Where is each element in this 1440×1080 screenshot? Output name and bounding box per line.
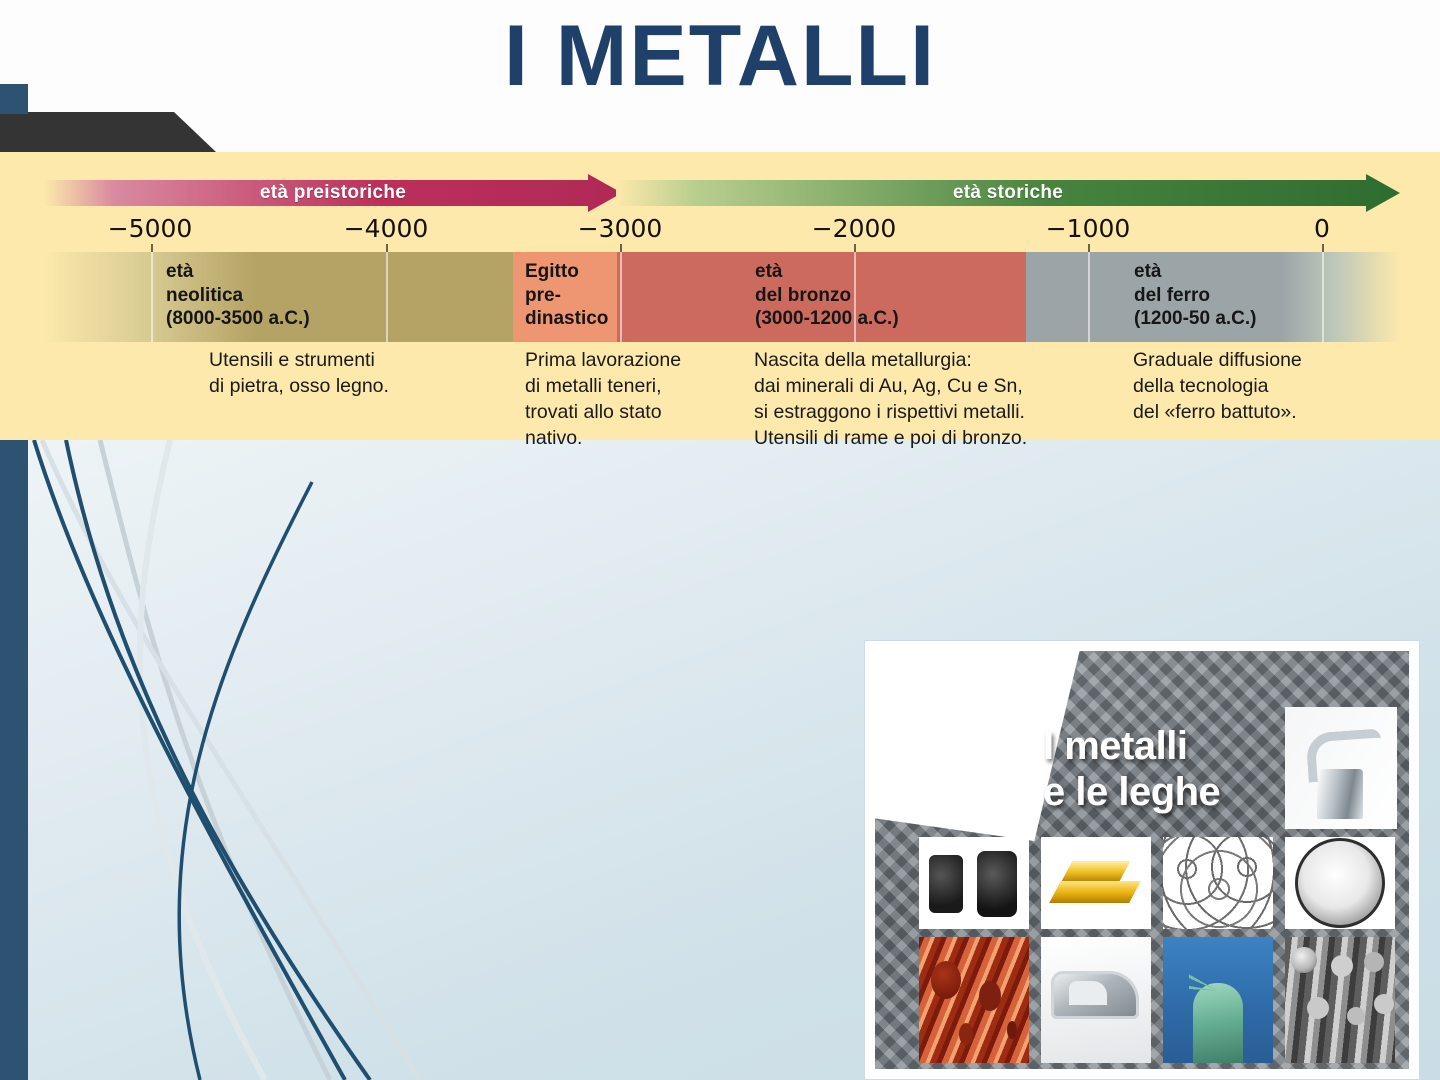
chain-mesh-thumbnail (1163, 837, 1273, 929)
axis-tick-label-minus3000: −3000 (578, 214, 663, 243)
era-arrow-label: età preistoriche (260, 182, 406, 204)
era-arrow-label: età storiche (953, 182, 1063, 204)
band-tick (620, 252, 622, 342)
metal-tools-thumbnail (1285, 937, 1395, 1063)
band-tick (386, 252, 388, 342)
period-band-eta-neolitica: età neolitica (8000-3500 a.C.) (44, 252, 513, 342)
axis-tick-label-zero: 0 (1314, 214, 1330, 243)
period-descriptions: Utensili e strumenti di pietra, osso leg… (0, 348, 1440, 440)
period-description-eta-neolitica: Utensili e strumenti di pietra, osso leg… (209, 348, 389, 400)
car-chassis-thumbnail (1041, 937, 1151, 1063)
period-description-egitto-predinastico: Prima lavorazione di metalli teneri, tro… (525, 348, 681, 452)
copper-pipes-thumbnail (919, 937, 1029, 1063)
axis-tick-label-minus1000: −1000 (1046, 214, 1131, 243)
period-band-label: età del ferro (1200-50 a.C.) (1134, 260, 1257, 331)
timeline-panel: età preistoriche età storiche −5000 −400… (0, 152, 1440, 440)
coin-thumbnail (1285, 837, 1395, 929)
period-band-eta-del-bronzo: età del bronzo (3000-1200 a.C.) (617, 252, 1026, 342)
period-band-label: età neolitica (8000-3500 a.C.) (166, 260, 310, 331)
gold-bars-thumbnail (1041, 837, 1151, 929)
axis-tick-labels: −5000 −4000 −3000 −2000 −1000 0 (0, 214, 1440, 242)
left-accent-bar (0, 440, 28, 1080)
era-arrows: età preistoriche età storiche (0, 174, 1440, 212)
axis-tick-label-minus5000: −5000 (108, 214, 193, 243)
faucet-thumbnail (1285, 707, 1397, 829)
axis-tick-label-minus2000: −2000 (812, 214, 897, 243)
period-description-eta-del-bronzo: Nascita della metallurgia: dai minerali … (754, 348, 1027, 452)
period-band-label: età del bronzo (3000-1200 a.C.) (755, 260, 899, 331)
band-tick (854, 252, 856, 342)
period-description-eta-del-ferro: Graduale diffusione della tecnologia del… (1133, 348, 1302, 426)
dumbbell-thumbnail (919, 837, 1029, 929)
book-cover-image[interactable]: I metalli e le leghe (864, 640, 1420, 1080)
era-arrow-preistoriche: età preistoriche (44, 174, 622, 212)
book-cover-title: I metalli e le leghe (1043, 723, 1220, 816)
period-band-label: Egitto pre- dinastico (525, 260, 608, 331)
book-cover-inner: I metalli e le leghe (875, 651, 1409, 1069)
band-tick (1088, 252, 1090, 342)
band-tick (1322, 252, 1324, 342)
statue-of-liberty-thumbnail (1163, 937, 1273, 1063)
slide: I METALLI età preistoriche età storiche … (0, 0, 1440, 1080)
band-tick (151, 252, 153, 342)
period-band-eta-del-ferro: età del ferro (1200-50 a.C.) (1026, 252, 1400, 342)
period-band-egitto-predinastico: Egitto pre- dinastico (513, 252, 617, 342)
page-title: I METALLI (0, 8, 1440, 104)
era-arrow-storiche: età storiche (616, 174, 1400, 212)
axis-tick-label-minus4000: −4000 (344, 214, 429, 243)
period-bands: età neolitica (8000-3500 a.C.) Egitto pr… (44, 252, 1400, 342)
